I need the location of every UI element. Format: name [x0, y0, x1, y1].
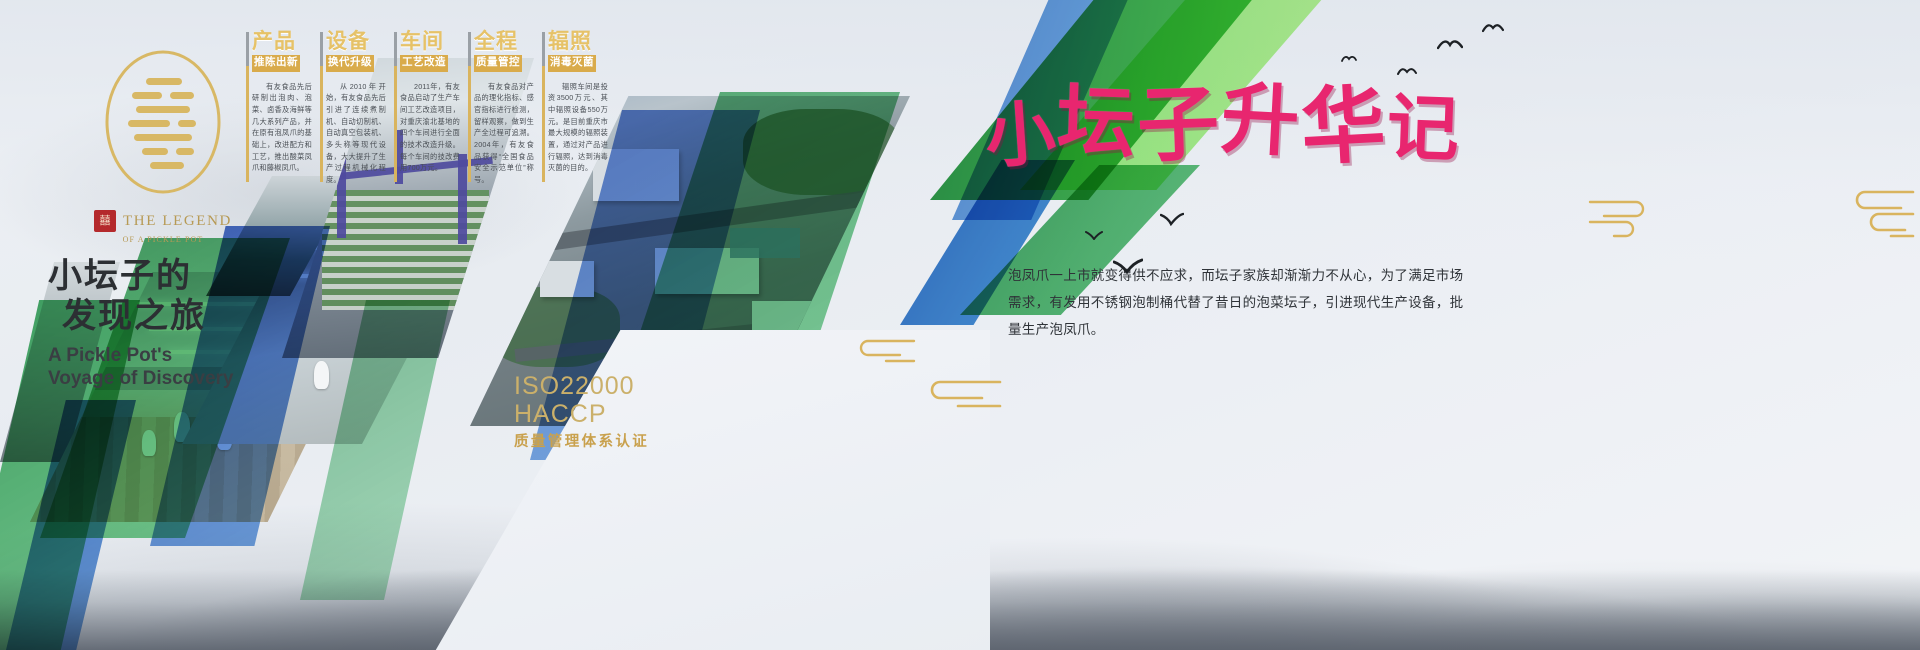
column-subtitle: 工艺改造 — [400, 55, 448, 72]
column-badge: 车间 工艺改造 — [400, 30, 462, 72]
red-seal-stamp-icon: 囍 — [94, 210, 116, 232]
legend-sub-text: OF A PICKLE POT — [48, 235, 278, 244]
column-title: 辐照 — [548, 30, 610, 52]
info-column-quality: 全程 质量管控 有友食品对产品的理化指标、感官指标进行检测，留样观察，做到生产全… — [474, 30, 540, 186]
headline-char-3: 子 — [1136, 83, 1221, 168]
column-subtitle: 推陈出新 — [252, 55, 300, 72]
column-subtitle: 质量管控 — [474, 55, 522, 72]
info-column-product: 产品 推陈出新 有友食品先后研制出泡肉、泡菜、卤香及海鲜等几大系列产品，并在原有… — [252, 30, 318, 186]
info-columns: 产品 推陈出新 有友食品先后研制出泡肉、泡菜、卤香及海鲜等几大系列产品，并在原有… — [252, 30, 622, 186]
bird-icon-1 — [1437, 38, 1463, 52]
column-rule — [246, 32, 249, 182]
bird-icon-2 — [1482, 22, 1504, 34]
column-title: 设备 — [326, 30, 388, 52]
certification-standard-iso: ISO22000 — [514, 372, 649, 400]
column-subtitle: 换代升级 — [326, 55, 374, 72]
poster-canvas: 囍 THE LEGEND OF A PICKLE POT 小坛子的 发现之旅 A… — [0, 0, 1920, 650]
page-title: 小 坛 子 升 华 记 — [985, 80, 1545, 200]
gold-cloud-swirl-lower-icon — [906, 376, 1002, 422]
brand-cn-title-line2: 发现之旅 — [62, 296, 278, 336]
headline-char-4: 升 — [1219, 80, 1301, 162]
bird-icon-4 — [1341, 54, 1357, 63]
column-badge: 产品 推陈出新 — [252, 30, 314, 72]
headline-char-1: 小 — [983, 98, 1058, 173]
column-rule — [542, 32, 545, 182]
gold-cloud-swirl-upper-icon — [1588, 196, 1658, 250]
certification-standard-haccp: HACCP — [514, 400, 649, 428]
bird-icon-7 — [1085, 230, 1103, 240]
brand-cn-title: 小坛子的 发现之旅 — [48, 256, 278, 336]
legend-wordmark: 囍 THE LEGEND OF A PICKLE POT — [48, 210, 278, 244]
column-rule — [320, 32, 323, 182]
column-body: 有友食品先后研制出泡肉、泡菜、卤香及海鲜等几大系列产品，并在原有泡凤爪的基础上，… — [252, 81, 312, 174]
body-paragraph: 泡凤爪一上市就变得供不应求，而坛子家族却渐渐力不从心，为了满足市场需求，有发用不… — [1008, 262, 1468, 343]
brand-en-title: A Pickle Pot's Voyage of Discovery — [48, 344, 278, 390]
certification-label-cn: 质量管理体系认证 — [514, 430, 649, 451]
column-body: 有友食品对产品的理化指标、感官指标进行检测，留样观察，做到生产全过程可追溯。20… — [474, 81, 534, 186]
bird-icon-6 — [1160, 212, 1184, 226]
column-rule — [468, 32, 471, 182]
info-column-equipment: 设备 换代升级 从2010年开始，有友食品先后引进了连续煮制机、自动切制机、自动… — [326, 30, 392, 186]
info-column-irradiation: 辐照 消毒灭菌 辐照车间是投资3500万元、其中辐照设备550万元。是目前重庆市… — [548, 30, 614, 186]
column-body: 辐照车间是投资3500万元、其中辐照设备550万元。是目前重庆市最大规模的辐照装… — [548, 81, 608, 174]
column-badge: 全程 质量管控 — [474, 30, 536, 72]
bird-icon-3 — [1397, 66, 1417, 77]
headline-char-5: 华 — [1299, 82, 1387, 170]
column-rule — [394, 32, 397, 182]
brand-en-title-line1: A Pickle Pot's — [48, 344, 278, 367]
column-body: 2011年，有友食品启动了生产车间工艺改造项目，对重庆渝北基地的四个车间进行全面… — [400, 81, 460, 174]
certification-block: ISO22000 HACCP 质量管理体系认证 — [514, 372, 649, 451]
headline-char-2: 坛 — [1056, 83, 1137, 164]
bird-icon-5 — [1113, 258, 1143, 275]
brand-cn-title-line1: 小坛子的 — [48, 256, 278, 296]
column-title: 车间 — [400, 30, 462, 52]
column-body: 从2010年开始，有友食品先后引进了连续煮制机、自动切制机、自动真空包装机、多头… — [326, 81, 386, 186]
gold-cloud-swirl-lower-left-icon — [840, 336, 916, 376]
column-badge: 设备 换代升级 — [326, 30, 388, 72]
legend-en-text: THE LEGEND — [123, 213, 232, 230]
column-title: 产品 — [252, 30, 314, 52]
column-title: 全程 — [474, 30, 536, 52]
gold-cloud-swirl-right-icon — [1835, 186, 1915, 246]
headline-char-6: 记 — [1386, 91, 1460, 165]
column-subtitle: 消毒灭菌 — [548, 55, 596, 72]
brand-lockup: 囍 THE LEGEND OF A PICKLE POT 小坛子的 发现之旅 A… — [48, 44, 278, 391]
column-badge: 辐照 消毒灭菌 — [548, 30, 610, 72]
brand-en-title-line2: Voyage of Discovery — [48, 367, 278, 390]
info-column-workshop: 车间 工艺改造 2011年，有友食品启动了生产车间工艺改造项目，对重庆渝北基地的… — [400, 30, 466, 186]
pickle-pot-seal-icon — [98, 44, 228, 204]
